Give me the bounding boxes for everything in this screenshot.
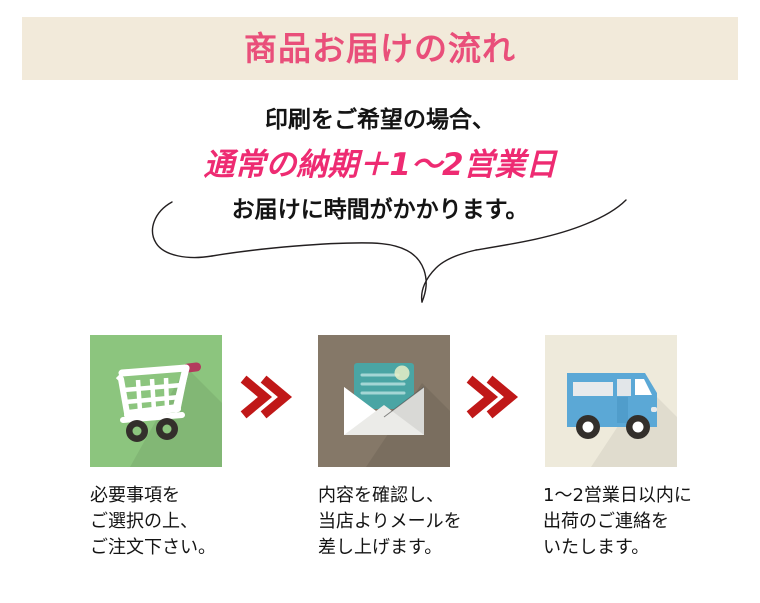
step-caption-line-2: 当店よりメールを [318,509,474,535]
step-item-order: 必要事項を ご選択の上、 ご注文下さい。 [66,335,246,561]
notice-block: 印刷をご希望の場合、 通常の納期＋1〜2営業日 お届けに時間がかかります。 [0,100,760,230]
delivery-truck-icon [545,335,677,467]
step-caption-mail: 内容を確認し、 当店よりメールを 差し上げます。 [318,483,474,561]
double-chevron-right-icon [240,375,294,419]
step-item-shipping: 1〜2営業日以内に 出荷のご連絡を いたします。 [521,335,701,561]
header-banner: 商品お届けの流れ [22,17,738,80]
step-caption-line-1: 必要事項を [90,483,246,509]
step-caption-order: 必要事項を ご選択の上、 ご注文下さい。 [90,483,246,561]
double-chevron-right-icon [466,375,520,419]
step-caption-line-3: いたします。 [543,535,701,561]
envelope-mail-icon [318,335,450,467]
step-tile-truck [545,335,677,467]
steps-row: 必要事項を ご選択の上、 ご注文下さい。 [0,335,760,585]
step-caption-shipping: 1〜2営業日以内に 出荷のご連絡を いたします。 [543,483,701,561]
notice-highlight-text: 通常の納期＋1〜2営業日 [0,140,760,190]
step-item-mail: 内容を確認し、 当店よりメールを 差し上げます。 [294,335,474,561]
step-caption-line-1: 内容を確認し、 [318,483,474,509]
chevron-glyph [240,375,294,419]
page-title: 商品お届けの流れ [244,32,516,65]
chevron-glyph [466,375,520,419]
step-caption-line-2: 出荷のご連絡を [543,509,701,535]
step-caption-line-2: ご選択の上、 [90,509,246,535]
step-caption-line-3: 差し上げます。 [318,535,474,561]
notice-line-1: 印刷をご希望の場合、 [0,100,760,140]
step-caption-line-3: ご注文下さい。 [90,535,246,561]
step-tile-cart [90,335,222,467]
step-tile-mail [318,335,450,467]
notice-line-3: お届けに時間がかかります。 [0,190,760,230]
shopping-cart-icon [90,335,222,467]
step-caption-line-1: 1〜2営業日以内に [543,483,701,509]
